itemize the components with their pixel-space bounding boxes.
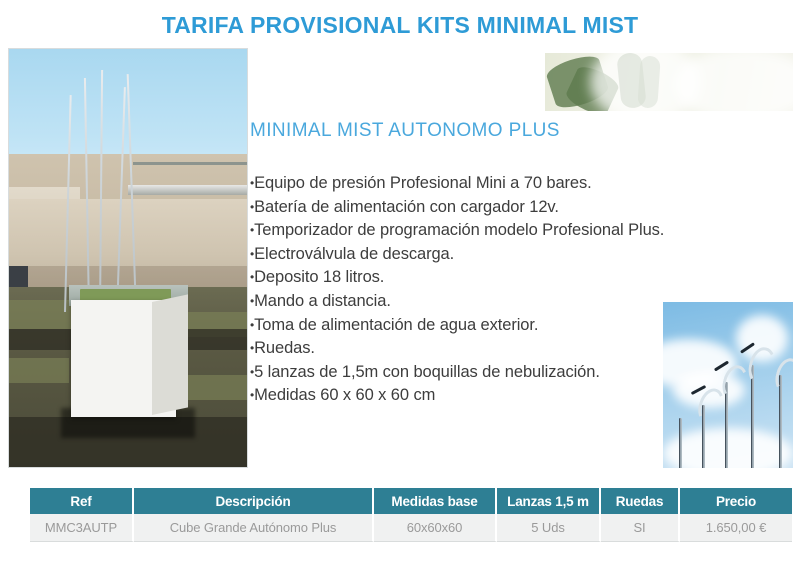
feature-item: •Equipo de presión Profesional Mini a 70… — [250, 172, 690, 196]
feature-item: •Temporizador de programación modelo Pro… — [250, 219, 690, 243]
table-header-ref: Ref — [30, 488, 134, 514]
product-photo-main — [8, 48, 248, 468]
feature-item-label: Ruedas. — [254, 339, 315, 357]
feature-list: •Equipo de presión Profesional Mini a 70… — [250, 172, 690, 408]
table-header-medidas: Medidas base — [374, 488, 497, 514]
table-header-desc: Descripción — [134, 488, 374, 514]
cell-desc: Cube Grande Autónomo Plus — [134, 514, 374, 542]
photo-canopy — [128, 185, 247, 195]
cell-ruedas: SI — [601, 514, 680, 542]
table-header-lanzas: Lanzas 1,5 m — [497, 488, 601, 514]
page-title: TARIFA PROVISIONAL KITS MINIMAL MIST — [0, 12, 800, 39]
product-photo-lances — [663, 302, 793, 468]
feature-item: •5 lanzas de 1,5m con boquillas de nebul… — [250, 361, 690, 385]
planter-side-face — [152, 294, 188, 414]
price-table: Ref Descripción Medidas base Lanzas 1,5 … — [30, 488, 792, 542]
feature-item: •Deposito 18 litros. — [250, 266, 690, 290]
feature-item: •Mando a distancia. — [250, 290, 690, 314]
feature-item-label: Batería de alimentación con cargador 12v… — [254, 198, 559, 216]
feature-item-label: 5 lanzas de 1,5m con boquillas de nebuli… — [254, 363, 600, 381]
photo-grass-patch — [9, 358, 69, 383]
table-row: MMC3AUTP Cube Grande Autónomo Plus 60x60… — [30, 514, 792, 542]
feature-item-label: Medidas 60 x 60 x 60 cm — [254, 386, 435, 404]
product-heading: MINIMAL MIST AUTONOMO PLUS — [250, 120, 560, 142]
feature-item: •Electroválvula de descarga. — [250, 243, 690, 267]
feature-item-label: Temporizador de programación modelo Prof… — [254, 221, 664, 239]
tariff-sheet-page: TARIFA PROVISIONAL KITS MINIMAL MIST — [0, 0, 800, 565]
photo-roof-railing — [133, 162, 247, 165]
mist-cloud — [674, 53, 793, 111]
feature-item-label: Equipo de presión Profesional Mini a 70 … — [254, 174, 592, 192]
cell-lanzas: 5 Uds — [497, 514, 601, 542]
feature-item: •Batería de alimentación con cargador 12… — [250, 196, 690, 220]
feature-item-label: Toma de alimentación de agua exterior. — [254, 316, 538, 334]
table-header-row: Ref Descripción Medidas base Lanzas 1,5 … — [30, 488, 792, 514]
feature-item-label: Deposito 18 litros. — [254, 268, 384, 286]
feature-item-label: Electroválvula de descarga. — [254, 245, 454, 263]
misting-lance — [679, 418, 682, 468]
cell-ref: MMC3AUTP — [30, 514, 134, 542]
table-header-ruedas: Ruedas — [601, 488, 680, 514]
photo-grass-patch — [180, 375, 247, 400]
table-header-precio: Precio — [680, 488, 792, 514]
feature-item: •Toma de alimentación de agua exterior. — [250, 314, 690, 338]
cell-medidas: 60x60x60 — [374, 514, 497, 542]
feature-item: •Ruedas. — [250, 337, 690, 361]
cell-precio: 1.650,00 € — [680, 514, 792, 542]
feature-item: •Medidas 60 x 60 x 60 cm — [250, 384, 690, 408]
feature-item-label: Mando a distancia. — [254, 292, 391, 310]
product-photo-mist-palms — [545, 53, 793, 111]
